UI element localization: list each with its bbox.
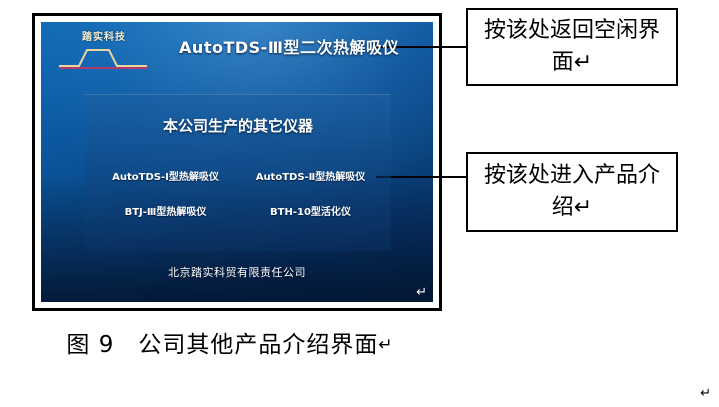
company-footer: 北京踏实科贸有限责任公司	[41, 264, 433, 280]
product-item-3[interactable]: BTJ-Ⅲ型热解吸仪	[93, 206, 238, 219]
brand-logo-label: 踏实科技	[61, 28, 147, 43]
caption-pilcrow-mark: ↵	[378, 335, 393, 355]
figure-caption-text: 图 9 公司其他产品介绍界面	[66, 332, 378, 358]
figure-caption: 图 9 公司其他产品介绍界面↵	[0, 325, 460, 359]
panel-heading: 本公司生产的其它仪器	[85, 115, 391, 136]
product-item-4[interactable]: BTH-10型活化仪	[238, 206, 383, 219]
screen-pilcrow-mark: ↵	[416, 285, 427, 300]
app-title: AutoTDS-Ⅲ型二次热解吸仪	[153, 34, 425, 58]
instrument-screen[interactable]: 踏实科技 AutoTDS-Ⅲ型二次热解吸仪 本公司生产的其它仪器 AutoTDS…	[41, 22, 433, 302]
brand-logo: 踏实科技	[55, 28, 151, 72]
screen-title-bar[interactable]: 踏实科技 AutoTDS-Ⅲ型二次热解吸仪	[41, 22, 433, 76]
other-products-panel: 本公司生产的其它仪器 AutoTDS-Ⅰ型热解吸仪 AutoTDS-Ⅱ型热解吸仪…	[85, 94, 391, 251]
callout-enter-product-intro: 按该处进入产品介绍↵	[466, 152, 678, 232]
waveform-icon	[57, 44, 149, 70]
instrument-screen-frame: 踏实科技 AutoTDS-Ⅲ型二次热解吸仪 本公司生产的其它仪器 AutoTDS…	[32, 13, 442, 311]
page-pilcrow-mark: ↵	[700, 386, 711, 401]
product-item-1[interactable]: AutoTDS-Ⅰ型热解吸仪	[93, 171, 238, 184]
product-item-2[interactable]: AutoTDS-Ⅱ型热解吸仪	[238, 171, 383, 184]
product-list: AutoTDS-Ⅰ型热解吸仪 AutoTDS-Ⅱ型热解吸仪 BTJ-Ⅲ型热解吸仪…	[93, 171, 383, 219]
callout-return-idle: 按该处返回空闲界面↵	[466, 8, 678, 86]
